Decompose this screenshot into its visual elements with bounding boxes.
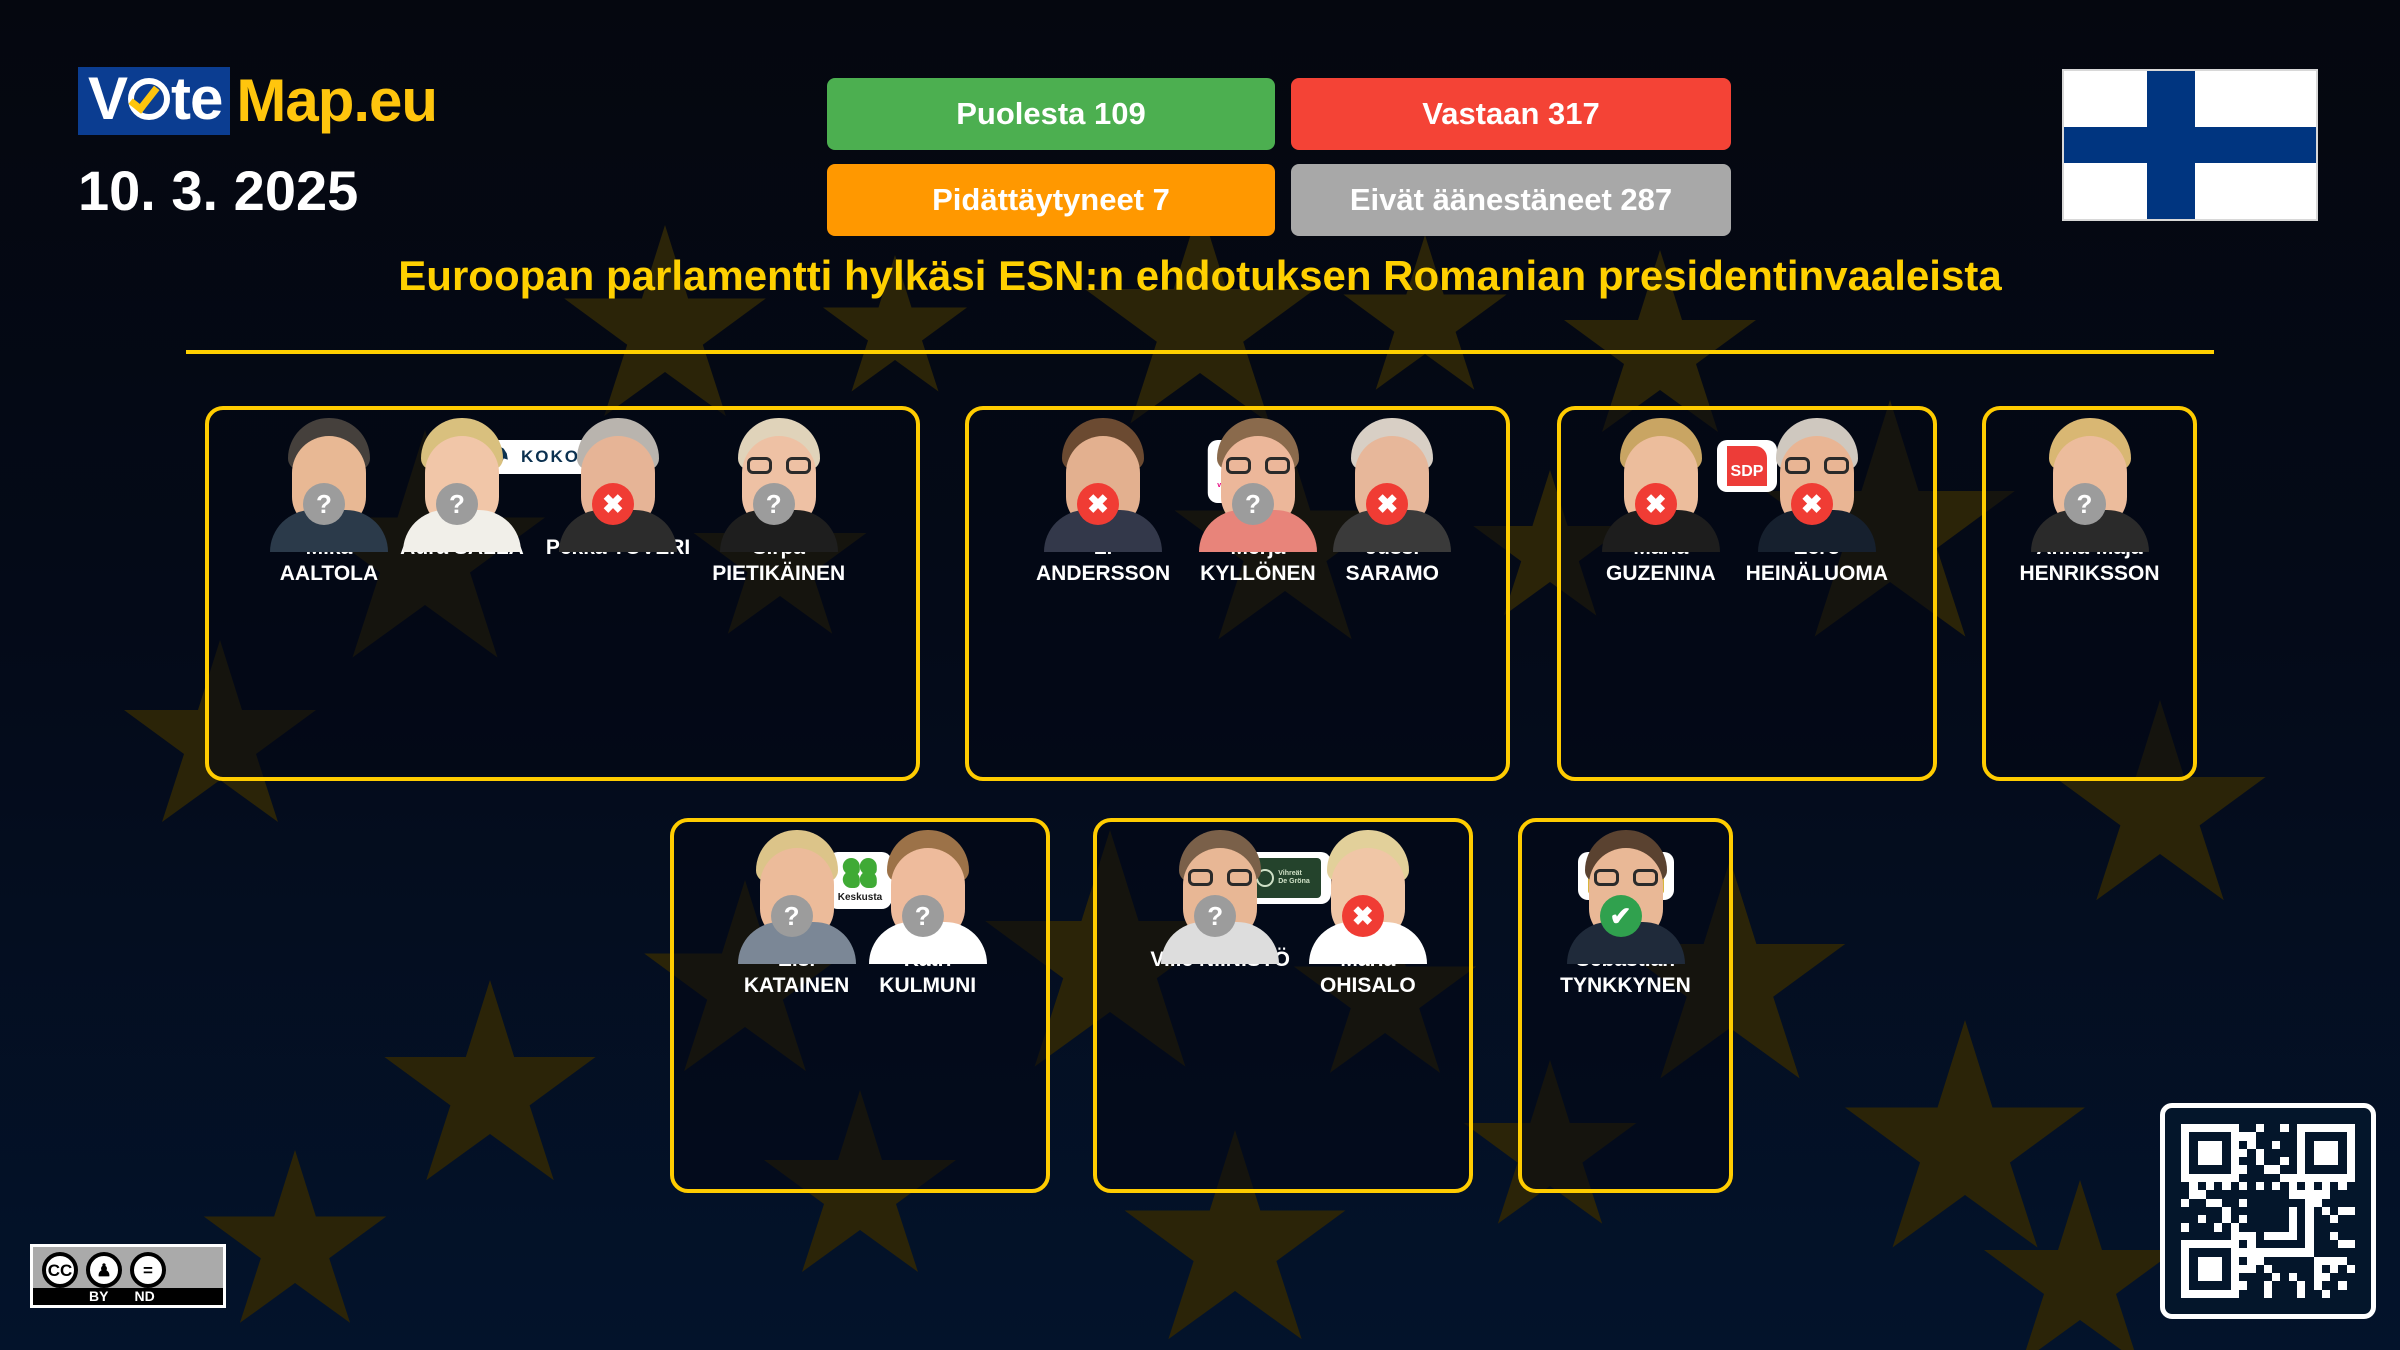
qr-module (2239, 1141, 2247, 1149)
qr-module (2297, 1215, 2305, 1223)
qr-module (2330, 1223, 2338, 1231)
qr-module (2322, 1265, 2330, 1273)
vote-badge-unknown: ? (1232, 483, 1274, 525)
qr-module (2280, 1141, 2288, 1149)
qr-module (2214, 1190, 2222, 1198)
qr-module (2338, 1257, 2346, 1265)
qr-module (2289, 1174, 2297, 1182)
qr-module (2305, 1240, 2313, 1248)
qr-module (2222, 1157, 2230, 1165)
qr-module (2314, 1240, 2322, 1248)
qr-module (2314, 1182, 2322, 1190)
qr-module (2280, 1223, 2288, 1231)
qr-module (2297, 1190, 2305, 1198)
qr-module (2330, 1132, 2338, 1140)
qr-module (2338, 1207, 2346, 1215)
qr-module (2280, 1174, 2288, 1182)
qr-module (2305, 1190, 2313, 1198)
qr-module (2239, 1165, 2247, 1173)
qr-module (2231, 1232, 2239, 1240)
qr-module (2206, 1149, 2214, 1157)
qr-module (2280, 1281, 2288, 1289)
qr-module (2297, 1207, 2305, 1215)
mep-ohisalo[interactable]: ✖Maria OHISALO (1320, 917, 1416, 998)
qr-module (2231, 1273, 2239, 1281)
qr-module (2239, 1215, 2247, 1223)
qr-module (2330, 1290, 2338, 1298)
qr-module (2338, 1182, 2346, 1190)
qr-module (2272, 1257, 2280, 1265)
qr-module (2181, 1265, 2189, 1273)
qr-module (2256, 1149, 2264, 1157)
qr-module (2305, 1157, 2313, 1165)
qr-module (2239, 1248, 2247, 1256)
qr-module (2264, 1290, 2272, 1298)
qr-module (2181, 1157, 2189, 1165)
mep-tynkkynen[interactable]: ✔Sebastian TYNKKYNEN (1560, 917, 1691, 998)
qr-module (2280, 1157, 2288, 1165)
qr-module (2272, 1141, 2280, 1149)
party-card-rkp[interactable]: ?Anna-Maja HENRIKSSON (1982, 406, 2197, 781)
qr-module (2264, 1232, 2272, 1240)
cc-by-label: BY (89, 1288, 108, 1304)
qr-module (2189, 1257, 2197, 1265)
qr-module (2214, 1265, 2222, 1273)
qr-module (2198, 1281, 2206, 1289)
qr-module (2338, 1132, 2346, 1140)
vote-badge-unknown: ? (1194, 895, 1236, 937)
party-card-vasemmistoliitto[interactable]: vasemmistovänstern✖Li ANDERSSON?Merja KY… (965, 406, 1510, 781)
qr-module (2247, 1223, 2255, 1231)
qr-module (2222, 1165, 2230, 1173)
qr-module (2189, 1199, 2197, 1207)
qr-module (2272, 1190, 2280, 1198)
qr-module (2330, 1215, 2338, 1223)
qr-module (2198, 1265, 2206, 1273)
qr-module (2247, 1182, 2255, 1190)
sdp-logo: SDP (1717, 440, 1777, 492)
qr-module (2231, 1240, 2239, 1248)
qr-module (2181, 1165, 2189, 1173)
qr-module (2181, 1174, 2189, 1182)
qr-module (2289, 1182, 2297, 1190)
qr-module (2272, 1124, 2280, 1132)
qr-module (2214, 1232, 2222, 1240)
qr-module (2305, 1273, 2313, 1281)
qr-module (2280, 1182, 2288, 1190)
qr-module (2247, 1240, 2255, 1248)
qr-module (2189, 1215, 2197, 1223)
qr-module (2206, 1265, 2214, 1273)
qr-module (2314, 1281, 2322, 1289)
qr-module (2289, 1240, 2297, 1248)
qr-module (2256, 1124, 2264, 1132)
qr-module (2264, 1149, 2272, 1157)
qr-module (2206, 1281, 2214, 1289)
qr-module (2198, 1215, 2206, 1223)
mep-andersson[interactable]: ✖Li ANDERSSON (1036, 505, 1170, 586)
qr-module (2189, 1190, 2197, 1198)
mep-heinluoma[interactable]: ✖Eero HEINÄLUOMA (1746, 505, 1888, 586)
mep-saramo[interactable]: ✖Jussi SARAMO (1346, 505, 1439, 586)
qr-module (2222, 1174, 2230, 1182)
qr-module (2206, 1165, 2214, 1173)
qr-module (2247, 1257, 2255, 1265)
qr-module (2305, 1132, 2313, 1140)
qr-module (2305, 1199, 2313, 1207)
qr-module (2189, 1232, 2197, 1240)
qr-module (2305, 1265, 2313, 1273)
qr-module (2289, 1281, 2297, 1289)
qr-module (2264, 1215, 2272, 1223)
qr-module (2222, 1240, 2230, 1248)
qr-module (2322, 1174, 2330, 1182)
qr-module (2231, 1199, 2239, 1207)
vote-badge-against: ✖ (1342, 895, 1384, 937)
qr-module (2338, 1190, 2346, 1198)
party-card-kokoomus[interactable]: KOKOOMUS?Mika AALTOLA?Aura SALLA✖Pekka T… (205, 406, 920, 781)
qr-module (2322, 1165, 2330, 1173)
qr-module (2239, 1257, 2247, 1265)
qr-module (2297, 1223, 2305, 1231)
qr-module (2222, 1232, 2230, 1240)
qr-module (2322, 1215, 2330, 1223)
mep-katainen[interactable]: ?Elsi KATAINEN (744, 917, 849, 998)
qr-module (2256, 1290, 2264, 1298)
qr-module (2338, 1232, 2346, 1240)
qr-module (2280, 1199, 2288, 1207)
qr-module (2239, 1132, 2247, 1140)
qr-module (2264, 1124, 2272, 1132)
qr-module (2256, 1273, 2264, 1281)
qr-module (2322, 1182, 2330, 1190)
qr-module (2338, 1124, 2346, 1132)
qr-module (2272, 1215, 2280, 1223)
qr-module (2330, 1190, 2338, 1198)
vote-badge-unknown: ? (771, 895, 813, 937)
qr-module (2222, 1124, 2230, 1132)
qr-module (2305, 1141, 2313, 1149)
qr-module (2289, 1124, 2297, 1132)
qr-module (2264, 1281, 2272, 1289)
qr-module (2214, 1273, 2222, 1281)
qr-module (2322, 1207, 2330, 1215)
qr-module (2289, 1141, 2297, 1149)
keskusta-logo: Keskusta (828, 852, 892, 909)
qr-module (2322, 1290, 2330, 1298)
vote-badge-for: ✔ (1600, 895, 1642, 937)
qr-module (2338, 1290, 2346, 1298)
qr-module (2297, 1240, 2305, 1248)
qr-module (2181, 1190, 2189, 1198)
qr-module (2239, 1149, 2247, 1157)
qr-module (2347, 1232, 2355, 1240)
qr-module (2272, 1232, 2280, 1240)
qr-module (2198, 1273, 2206, 1281)
qr-module (2239, 1265, 2247, 1273)
qr-module (2256, 1174, 2264, 1182)
qr-module (2189, 1223, 2197, 1231)
party-card-perussuomalaiset[interactable]: PerusS✔Sebastian TYNKKYNEN (1518, 818, 1733, 1193)
qr-module (2347, 1157, 2355, 1165)
qr-module (2347, 1248, 2355, 1256)
qr-module (2264, 1157, 2272, 1165)
qr-module (2247, 1290, 2255, 1298)
mep-niinist[interactable]: ?Ville NIINISTÖ (1150, 917, 1290, 998)
party-card-keskusta[interactable]: Keskusta?Elsi KATAINEN?Katri KULMUNI (670, 818, 1050, 1193)
qr-module (2272, 1165, 2280, 1173)
qr-module (2272, 1223, 2280, 1231)
qr-module (2297, 1273, 2305, 1281)
qr-module (2256, 1232, 2264, 1240)
qr-module (2198, 1190, 2206, 1198)
qr-module (2338, 1223, 2346, 1231)
qr-module (2280, 1165, 2288, 1173)
qr-module (2231, 1174, 2239, 1182)
qr-module (2289, 1232, 2297, 1240)
qr-module (2222, 1190, 2230, 1198)
qr-module (2231, 1248, 2239, 1256)
party-card-vihreat[interactable]: VihreätDe Gröna?Ville NIINISTÖ✖Maria OHI… (1093, 818, 1473, 1193)
qr-module (2231, 1149, 2239, 1157)
qr-module (2206, 1132, 2214, 1140)
qr-module (2289, 1157, 2297, 1165)
qr-module (2330, 1157, 2338, 1165)
qr-module (2222, 1273, 2230, 1281)
qr-module (2264, 1257, 2272, 1265)
qr-module (2338, 1273, 2346, 1281)
qr-module (2239, 1190, 2247, 1198)
qr-module (2272, 1265, 2280, 1273)
qr-module (2314, 1157, 2322, 1165)
qr-module (2305, 1165, 2313, 1173)
qr-module (2272, 1174, 2280, 1182)
qr-module (2314, 1232, 2322, 1240)
cc-icon: CC (42, 1252, 78, 1288)
qr-module (2231, 1165, 2239, 1173)
qr-module (2214, 1132, 2222, 1140)
qr-module (2198, 1157, 2206, 1165)
qr-module (2181, 1281, 2189, 1289)
qr-module (2338, 1157, 2346, 1165)
mep-kyllnen[interactable]: ?Merja KYLLÖNEN (1200, 505, 1316, 586)
qr-module (2239, 1124, 2247, 1132)
qr-module (2314, 1199, 2322, 1207)
qr-module (2222, 1141, 2230, 1149)
qr-module (2189, 1124, 2197, 1132)
qr-module (2256, 1165, 2264, 1173)
qr-module (2181, 1124, 2189, 1132)
qr-module (2256, 1132, 2264, 1140)
qr-module (2264, 1273, 2272, 1281)
qr-module (2272, 1290, 2280, 1298)
vote-badge-unknown: ? (2064, 483, 2106, 525)
qr-module (2322, 1232, 2330, 1240)
mep-kulmuni[interactable]: ?Katri KULMUNI (879, 917, 976, 998)
qr-module (2297, 1174, 2305, 1182)
qr-module (2289, 1165, 2297, 1173)
qr-module (2247, 1207, 2255, 1215)
qr-module (2198, 1199, 2206, 1207)
qr-code[interactable] (2160, 1103, 2376, 1319)
cc-by-nd-badge[interactable]: CC ♟ = BY ND (30, 1244, 226, 1308)
qr-module (2247, 1149, 2255, 1157)
qr-module (2256, 1199, 2264, 1207)
qr-module (2222, 1132, 2230, 1140)
qr-module (2198, 1207, 2206, 1215)
qr-module (2206, 1157, 2214, 1165)
mep-guzenina[interactable]: ✖Maria GUZENINA (1606, 505, 1716, 586)
clover-icon (843, 858, 877, 890)
qr-module (2222, 1248, 2230, 1256)
qr-module (2338, 1141, 2346, 1149)
qr-module (2330, 1265, 2338, 1273)
qr-module (2231, 1290, 2239, 1298)
qr-module (2256, 1223, 2264, 1231)
qr-module (2189, 1290, 2197, 1298)
qr-module (2289, 1273, 2297, 1281)
qr-module (2264, 1199, 2272, 1207)
qr-module (2314, 1248, 2322, 1256)
qr-module (2189, 1182, 2197, 1190)
qr-module (2189, 1132, 2197, 1140)
qr-module (2198, 1223, 2206, 1231)
qr-module (2181, 1199, 2189, 1207)
vote-badge-unknown: ? (436, 483, 478, 525)
mep-toveri[interactable]: ✖Pekka TOVERI (546, 505, 690, 586)
qr-module (2264, 1265, 2272, 1273)
qr-module (2280, 1190, 2288, 1198)
qr-module (2231, 1215, 2239, 1223)
qr-module (2280, 1124, 2288, 1132)
qr-module (2256, 1190, 2264, 1198)
qr-module (2314, 1273, 2322, 1281)
qr-module (2347, 1240, 2355, 1248)
mep-salla[interactable]: ?Aura SALLA (400, 505, 524, 586)
qr-module (2214, 1199, 2222, 1207)
qr-module (2314, 1141, 2322, 1149)
qr-module (2239, 1240, 2247, 1248)
qr-module (2239, 1174, 2247, 1182)
qr-module (2272, 1199, 2280, 1207)
qr-module (2297, 1132, 2305, 1140)
qr-module (2247, 1215, 2255, 1223)
qr-module (2256, 1207, 2264, 1215)
qr-module (2256, 1281, 2264, 1289)
qr-module (2314, 1265, 2322, 1273)
qr-module (2189, 1174, 2197, 1182)
party-card-sdp[interactable]: SDP✖Maria GUZENINA✖Eero HEINÄLUOMA (1557, 406, 1937, 781)
qr-module (2189, 1165, 2197, 1173)
qr-module (2264, 1190, 2272, 1198)
qr-module (2181, 1207, 2189, 1215)
qr-module (2206, 1124, 2214, 1132)
qr-module (2305, 1124, 2313, 1132)
mep-henriksson[interactable]: ?Anna-Maja HENRIKSSON (2019, 505, 2159, 586)
qr-module (2206, 1174, 2214, 1182)
qr-module (2280, 1132, 2288, 1140)
qr-module (2297, 1149, 2305, 1157)
qr-module (2347, 1290, 2355, 1298)
qr-module (2189, 1273, 2197, 1281)
qr-module (2322, 1257, 2330, 1265)
qr-module (2280, 1215, 2288, 1223)
qr-module (2297, 1290, 2305, 1298)
qr-module (2305, 1290, 2313, 1298)
qr-module (2330, 1149, 2338, 1157)
qr-module (2338, 1149, 2346, 1157)
vote-badge-against: ✖ (1077, 483, 1119, 525)
qr-module (2297, 1232, 2305, 1240)
qr-module (2189, 1281, 2197, 1289)
mep-aaltola[interactable]: ?Mika AALTOLA (280, 505, 378, 586)
qr-module (2289, 1223, 2297, 1231)
qr-module (2214, 1149, 2222, 1157)
qr-module (2280, 1290, 2288, 1298)
qr-module (2297, 1124, 2305, 1132)
qr-module (2214, 1157, 2222, 1165)
qr-module (2347, 1149, 2355, 1157)
qr-module (2247, 1273, 2255, 1281)
keskusta-logo: Keskusta (838, 858, 882, 903)
qr-module (2189, 1157, 2197, 1165)
qr-module (2214, 1124, 2222, 1132)
mep-pietikinen[interactable]: ?Sirpa PIETIKÄINEN (712, 505, 845, 586)
qr-module (2338, 1281, 2346, 1289)
qr-module (2256, 1215, 2264, 1223)
qr-module (2222, 1223, 2230, 1231)
qr-module (2222, 1182, 2230, 1190)
qr-module (2347, 1199, 2355, 1207)
qr-module (2347, 1174, 2355, 1182)
qr-module (2231, 1182, 2239, 1190)
qr-module (2264, 1182, 2272, 1190)
infographic-root: V te Map.eu 10. 3. 2025 Puolesta 109Vast… (0, 0, 2400, 1350)
qr-module (2247, 1199, 2255, 1207)
qr-module (2222, 1281, 2230, 1289)
qr-module (2239, 1273, 2247, 1281)
qr-module (2222, 1215, 2230, 1223)
qr-module (2347, 1257, 2355, 1265)
vote-badge-against: ✖ (592, 483, 634, 525)
qr-module (2305, 1207, 2313, 1215)
qr-module (2239, 1207, 2247, 1215)
qr-module (2247, 1190, 2255, 1198)
qr-module (2280, 1265, 2288, 1273)
qr-module (2181, 1215, 2189, 1223)
qr-module (2305, 1232, 2313, 1240)
qr-module (2222, 1265, 2230, 1273)
qr-module (2239, 1157, 2247, 1165)
qr-module (2247, 1265, 2255, 1273)
qr-module (2347, 1165, 2355, 1173)
no-derivatives-equals-icon: = (130, 1252, 166, 1288)
qr-module (2189, 1141, 2197, 1149)
qr-module (2264, 1141, 2272, 1149)
qr-module (2231, 1207, 2239, 1215)
qr-module (2314, 1149, 2322, 1157)
qr-module (2256, 1265, 2264, 1273)
qr-module (2198, 1182, 2206, 1190)
qr-module (2330, 1248, 2338, 1256)
qr-module (2231, 1265, 2239, 1273)
qr-module (2214, 1248, 2222, 1256)
vote-badge-against: ✖ (1791, 483, 1833, 525)
qr-module (2322, 1124, 2330, 1132)
qr-module (2338, 1240, 2346, 1248)
qr-module (2256, 1240, 2264, 1248)
qr-module (2330, 1273, 2338, 1281)
